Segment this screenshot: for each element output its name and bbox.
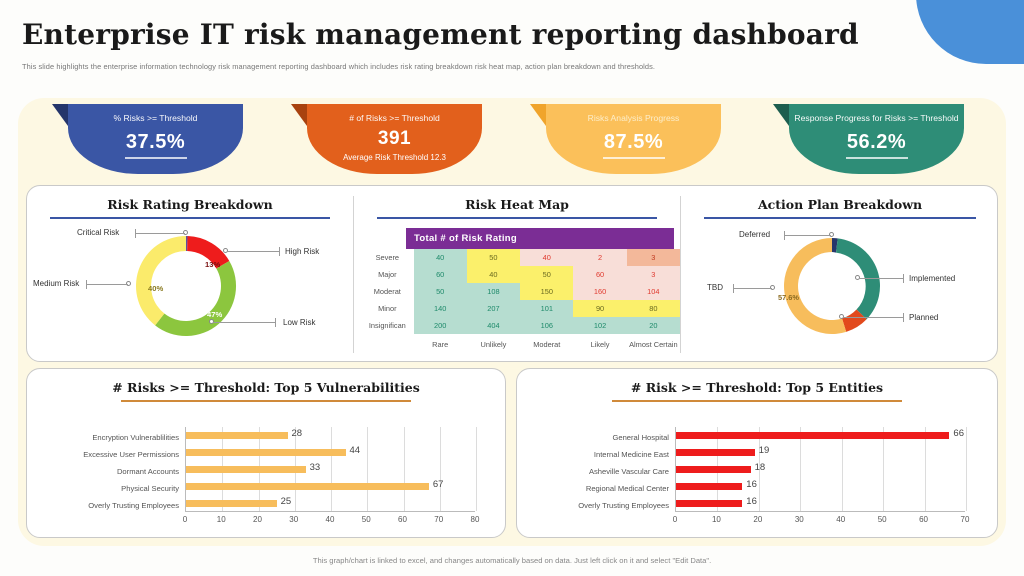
panel-title: Action Plan Breakdown [681,197,999,212]
heat-map-cell: 80 [627,300,680,317]
callout-line-planned [843,317,903,318]
page-subtitle: This slide highlights the enterprise inf… [22,62,655,71]
bar-chart-bar[interactable]: 33 [186,466,306,473]
bar-fill [676,483,742,490]
bar-value-label: 33 [310,462,321,473]
bar-value-label: 67 [433,479,444,490]
donut-svg-action-plan [775,229,889,343]
bar-chart-gridline [800,427,801,511]
bar-chart-category-label: General Hospital [519,429,669,446]
page-title: Enterprise IT risk management reporting … [22,18,859,51]
bar-chart-x-tick-label: 10 [706,515,726,524]
bar-chart-gridline [440,427,441,511]
callout-tick-high [279,247,280,256]
bar-chart-bar[interactable]: 28 [186,432,288,439]
heat-map-row: Major604050603 [360,266,680,283]
heat-map-cell: 50 [520,266,573,283]
kpi-underline [125,157,187,159]
heat-map-column-header-row: RareUnlikelyModeratLikelyAlmost Certain [360,334,680,351]
heat-map-column-label: Rare [414,334,467,351]
heat-map-cell: 60 [573,266,626,283]
bar-chart-category-label: Internal Medicine East [519,446,669,463]
heat-map-cell: 20 [627,317,680,334]
heat-map-cell: 40 [520,249,573,266]
bar-chart-category-label: Regional Medical Center [519,480,669,497]
bar-value-label: 44 [350,445,361,456]
bar-value-label: 28 [292,428,303,439]
bar-chart-category-label: Encryption Vulnerablilities [29,429,179,446]
heat-map-cell: 3 [627,266,680,283]
bar-chart-category-label: Physical Security [29,480,179,497]
callout-tick-critical [135,229,136,238]
kpi-row: % Risks >= Threshold 37.5% # of Risks >=… [0,100,1024,178]
bar-chart-gridline [476,427,477,511]
heat-map-cell: 106 [520,317,573,334]
bar-chart-category-label: Overly Trusting Employees [519,497,669,514]
bar-chart-bar[interactable]: 44 [186,449,346,456]
ribbon-fold [52,104,68,126]
bar-fill [676,466,751,473]
bar-fill [186,500,277,507]
bar-chart-bar[interactable]: 67 [186,483,429,490]
entities-bar-chart[interactable]: General HospitalInternal Medicine EastAs… [517,421,997,533]
bar-chart-plot-area: 2844336725 [185,427,475,512]
heat-map-cell: 50 [467,249,520,266]
donut-value-implemented: 32.9% [835,265,856,274]
bar-chart-category-label: Asheville Vascular Care [519,463,669,480]
action-plan-donut-chart[interactable]: 32.9% 7.6% 57.6% Deferred Implemented TB… [681,219,999,351]
bar-value-label: 25 [281,496,292,507]
heat-map-column-label: Almost Certain [627,334,680,351]
vulnerabilities-bar-chart[interactable]: Encryption VulnerablilitiesExcessive Use… [27,421,505,533]
kpi-label: Risks Analysis Progress [588,113,680,124]
kpi-label: Response Progress for Risks >= Threshold [794,113,958,124]
heat-map-cell: 101 [520,300,573,317]
heat-map-cell: 50 [414,283,467,300]
heat-map-cell: 140 [414,300,467,317]
heat-map-cell: 102 [573,317,626,334]
kpi-value: 56.2% [847,131,906,154]
kpi-value: 391 [378,128,411,150]
bar-fill [186,449,346,456]
bar-value-label: 66 [953,428,964,439]
top-panels-card: Risk Rating Breakdown 13 [26,185,998,362]
bar-chart-x-tick-label: 60 [914,515,934,524]
heat-map-cell: 104 [627,283,680,300]
kpi-card-analysis-progress[interactable]: Risks Analysis Progress 87.5% [546,104,721,174]
donut-label-medium-risk: Medium Risk [33,279,79,288]
bar-chart-bar[interactable]: 16 [676,483,742,490]
bar-chart-x-tick-label: 40 [320,515,340,524]
callout-line-implemented [859,278,903,279]
bar-chart-x-tick-label: 20 [748,515,768,524]
bar-fill [676,432,949,439]
bar-fill [186,483,429,490]
kpi-underline [603,157,665,159]
kpi-label: % Risks >= Threshold [114,113,198,124]
bar-fill [676,449,755,456]
donut-label-tbd: TBD [707,283,723,292]
bar-chart-x-tick-label: 60 [393,515,413,524]
bar-value-label: 19 [759,445,770,456]
kpi-label: # of Risks >= Threshold [349,113,440,124]
heat-map-cell: 90 [573,300,626,317]
donut-value-tbd: 57.6% [778,293,799,302]
heat-map-cell: 40 [414,249,467,266]
panel-title: Risk Rating Breakdown [27,197,353,212]
callout-tick-planned [903,313,904,322]
panel-risk-heat-map: Risk Heat Map Total # of Risk Rating Sev… [354,186,680,363]
donut-label-implemented: Implemented [909,274,955,283]
ribbon-fold [773,104,789,126]
donut-svg-risk-rating [127,227,245,345]
heat-map-cell: 2 [573,249,626,266]
panel-title: Risk Heat Map [354,197,680,212]
callout-tick-medium [86,280,87,289]
kpi-underline [846,157,908,159]
heat-map-chart[interactable]: Total # of Risk Rating Severe40504023Maj… [360,228,680,351]
heat-map-cell: 207 [467,300,520,317]
heat-map-column-label: Likely [573,334,626,351]
bar-chart-gridline [404,427,405,511]
bar-chart-category-label: Excessive User Permissions [29,446,179,463]
panel-top-entities: # Risk >= Threshold: Top 5 Entities Gene… [516,368,998,538]
heat-map-row: Minor1402071019080 [360,300,680,317]
bar-chart-x-tick-label: 0 [665,515,685,524]
bar-chart-gridline [925,427,926,511]
callout-line-low [213,322,275,323]
panel-underline [377,217,657,219]
bar-chart-x-tick-label: 50 [872,515,892,524]
bar-chart-category-labels: Encryption VulnerablilitiesExcessive Use… [29,429,179,514]
callout-line-medium [86,284,128,285]
donut-value-high-risk: 13% [205,260,220,269]
bar-chart-x-tick-label: 0 [175,515,195,524]
bar-chart-gridline [331,427,332,511]
panel-action-plan-breakdown: Action Plan Breakdown 32.9% [681,186,999,363]
heat-map-cell: 160 [573,283,626,300]
bar-chart-bar[interactable]: 18 [676,466,751,473]
heat-map-row-label: Moderat [360,283,414,300]
bar-chart-x-tick-label: 70 [955,515,975,524]
panel-title: # Risks >= Threshold: Top 5 Vulnerabilit… [27,380,505,395]
bar-chart-bar[interactable]: 25 [186,500,277,507]
bar-value-label: 16 [746,496,757,507]
callout-line-deferred [784,235,831,236]
bar-chart-x-axis: 01020304050607080 [185,515,475,527]
callout-tick-deferred [784,231,785,240]
bar-chart-gridline [883,427,884,511]
bar-fill [186,466,306,473]
ribbon-fold [291,104,307,126]
bar-chart-x-tick-label: 10 [211,515,231,524]
donut-value-planned: 7.6% [833,303,849,312]
donut-label-deferred: Deferred [739,230,770,239]
heat-map-cell: 108 [467,283,520,300]
kpi-subtext: Average Risk Threshold 12.3 [343,153,446,162]
callout-tick-implemented [903,274,904,283]
kpi-value: 37.5% [126,131,185,154]
panel-title: # Risk >= Threshold: Top 5 Entities [517,380,997,395]
heat-map-cell: 3 [627,249,680,266]
panel-top-vulnerabilities: # Risks >= Threshold: Top 5 Vulnerabilit… [26,368,506,538]
bar-value-label: 16 [746,479,757,490]
kpi-value: 87.5% [604,131,663,154]
bar-value-label: 18 [755,462,766,473]
heat-map-corner-cell [360,334,414,351]
kpi-card-percent-risks[interactable]: % Risks >= Threshold 37.5% [68,104,243,174]
bar-chart-gridline [842,427,843,511]
callout-tick-low [275,318,276,327]
bar-chart-bar[interactable]: 66 [676,432,949,439]
heat-map-row: Insignifican20040410610220 [360,317,680,334]
kpi-card-number-risks[interactable]: # of Risks >= Threshold 391 Average Risk… [307,104,482,174]
panel-underline [612,400,902,402]
heat-map-row-label: Severe [360,249,414,266]
callout-line-tbd [733,288,772,289]
footer-note: This graph/chart is linked to excel, and… [0,556,1024,565]
bar-chart-gridline [367,427,368,511]
callout-line-high [227,251,279,252]
bar-chart-x-axis: 010203040506070 [675,515,965,527]
panel-risk-rating-breakdown: Risk Rating Breakdown 13 [27,186,353,363]
kpi-card-response-progress[interactable]: Response Progress for Risks >= Threshold… [789,104,964,174]
bar-chart-x-tick-label: 40 [831,515,851,524]
donut-value-medium-risk: 40% [148,284,163,293]
heat-map-cell: 40 [467,266,520,283]
bar-chart-gridline [966,427,967,511]
heat-map-row-label: Insignifican [360,317,414,334]
ribbon-fold [530,104,546,126]
bar-chart-bar[interactable]: 16 [676,500,742,507]
donut-label-high-risk: High Risk [285,247,319,256]
bar-chart-x-tick-label: 70 [429,515,449,524]
heat-map-table: Severe40504023Major604050603Moderat50108… [360,249,680,351]
heat-map-row-label: Minor [360,300,414,317]
heat-map-cell: 60 [414,266,467,283]
bar-fill [186,432,288,439]
bar-chart-plot-area: 6619181616 [675,427,965,512]
donut-label-low-risk: Low Risk [283,318,315,327]
panel-underline [121,400,411,402]
heat-map-cell: 150 [520,283,573,300]
bar-chart-x-tick-label: 30 [284,515,304,524]
heat-map-cell: 200 [414,317,467,334]
heat-map-column-label: Unlikely [467,334,520,351]
callout-tick-tbd [733,284,734,293]
bar-fill [676,500,742,507]
heat-map-row-label: Major [360,266,414,283]
bar-chart-category-labels: General HospitalInternal Medicine EastAs… [519,429,669,514]
blue-corner-decoration [916,0,1024,64]
bar-chart-x-tick-label: 20 [248,515,268,524]
heat-map-column-label: Moderat [520,334,573,351]
bar-chart-bar[interactable]: 19 [676,449,755,456]
donut-label-planned: Planned [909,313,938,322]
heat-map-cell: 404 [467,317,520,334]
dashboard-slide: Enterprise IT risk management reporting … [0,0,1024,576]
bar-chart-category-label: Overly Trusting Employees [29,497,179,514]
bar-chart-x-tick-label: 80 [465,515,485,524]
bar-chart-category-label: Dormant Accounts [29,463,179,480]
donut-value-low-risk: 47% [207,310,222,319]
risk-rating-donut-chart[interactable]: 13% 40% 47% Critical Risk High Risk Medi… [27,219,353,351]
heat-map-row: Severe40504023 [360,249,680,266]
donut-label-critical-risk: Critical Risk [77,228,119,237]
bar-chart-x-tick-label: 50 [356,515,376,524]
bar-chart-x-tick-label: 30 [789,515,809,524]
heat-map-row: Moderat50108150160104 [360,283,680,300]
heat-map-table-title: Total # of Risk Rating [406,228,674,249]
callout-line-critical [135,233,185,234]
